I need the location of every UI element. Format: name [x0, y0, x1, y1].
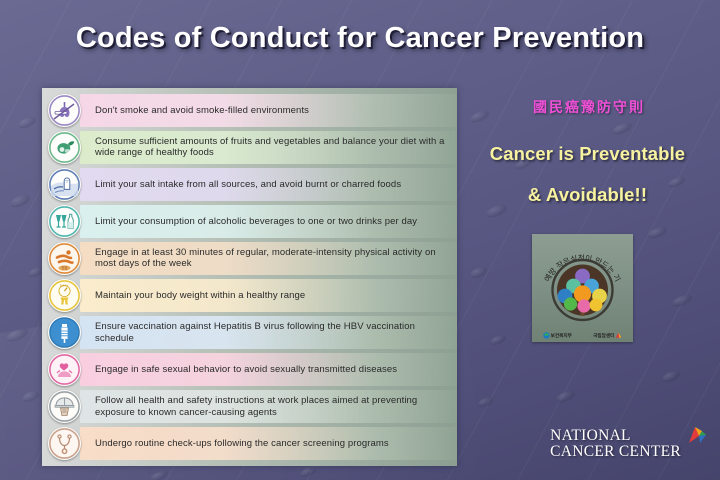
- korean-cancer-prevention-emblem: 암예방 작은실천이 만드는 기적 보건복지부: [532, 234, 633, 342]
- codes-of-conduct-panel: Don't smoke and avoid smoke-filled envir…: [42, 88, 457, 466]
- slogan-line-2: & Avoidable!!: [455, 184, 720, 206]
- ncc-logo-line2: CANCER CENTER: [550, 444, 681, 461]
- center-label-group: 국립암센터: [593, 332, 622, 339]
- list-item: BODY Maintain your body weight within a …: [42, 277, 457, 314]
- salt-shaker-icon: [48, 168, 81, 201]
- emblem-footer: 보건복지부 국립암센터: [532, 332, 633, 339]
- emblem-graphic: 암예방 작은실천이 만드는 기적: [532, 234, 633, 342]
- exercise-runner-icon: 건강: [48, 242, 81, 275]
- ncc-mini-mark-icon: [615, 332, 622, 339]
- list-item-label: Undergo routine check-ups following the …: [95, 438, 389, 450]
- list-item-label: Limit your salt intake from all sources,…: [95, 179, 401, 191]
- ministry-label: 보건복지부: [551, 333, 572, 339]
- alcohol-glasses-icon: [48, 205, 81, 238]
- list-item: Consume sufficient amounts of fruits and…: [42, 129, 457, 166]
- svg-text:건강: 건강: [61, 265, 67, 270]
- list-item-label: Don't smoke and avoid smoke-filled envir…: [95, 105, 309, 117]
- list-item-label: Maintain your body weight within a healt…: [95, 290, 305, 302]
- list-item: Ensure vaccination against Hepatitis B v…: [42, 314, 457, 351]
- safe-sex-heart-icon: [48, 353, 81, 386]
- list-item: Undergo routine check-ups following the …: [42, 425, 457, 462]
- list-item-label: Follow all health and safety instruction…: [95, 395, 447, 418]
- list-item: Engage in safe sexual behavior to avoid …: [42, 351, 457, 388]
- ministry-mark-icon: [543, 332, 550, 339]
- list-item-label: Limit your consumption of alcoholic beve…: [95, 216, 417, 228]
- chinese-heading: 國民癌豫防守則: [460, 97, 718, 117]
- ministry-label-group: 보건복지부: [543, 332, 572, 339]
- ncc-ribbon-icon: [686, 424, 708, 451]
- list-item: 건강 Engage in at least 30 minutes of regu…: [42, 240, 457, 277]
- list-item: Limit your salt intake from all sources,…: [42, 166, 457, 203]
- national-cancer-center-logo: NATIONAL CANCER CENTER: [550, 424, 708, 464]
- vaccine-syringe-icon: [48, 316, 81, 349]
- ncc-logo-text: NATIONAL CANCER CENTER: [550, 428, 681, 461]
- list-item-label: Ensure vaccination against Hepatitis B v…: [95, 321, 447, 344]
- list-item-label: Engage in safe sexual behavior to avoid …: [95, 364, 397, 376]
- list-item: Follow all health and safety instruction…: [42, 388, 457, 425]
- ncc-logo-line1: NATIONAL: [550, 428, 681, 445]
- no-smoking-lungs-icon: [48, 94, 81, 127]
- list-item: Limit your consumption of alcoholic beve…: [42, 203, 457, 240]
- health-checkup-icon: [48, 427, 81, 460]
- center-label: 국립암센터: [593, 333, 614, 339]
- slide-canvas: Codes of Conduct for Cancer Prevention D…: [0, 0, 720, 480]
- vegetables-icon: [48, 131, 81, 164]
- body-weight-scale-icon: BODY: [48, 279, 81, 312]
- svg-text:BODY: BODY: [60, 284, 69, 288]
- workplace-safety-icon: [48, 390, 81, 423]
- list-item: Don't smoke and avoid smoke-filled envir…: [42, 92, 457, 129]
- slogan-line-1: Cancer is Preventable: [455, 143, 720, 165]
- list-item-label: Engage in at least 30 minutes of regular…: [95, 247, 447, 270]
- page-title: Codes of Conduct for Cancer Prevention: [0, 22, 720, 55]
- list-item-label: Consume sufficient amounts of fruits and…: [95, 136, 447, 159]
